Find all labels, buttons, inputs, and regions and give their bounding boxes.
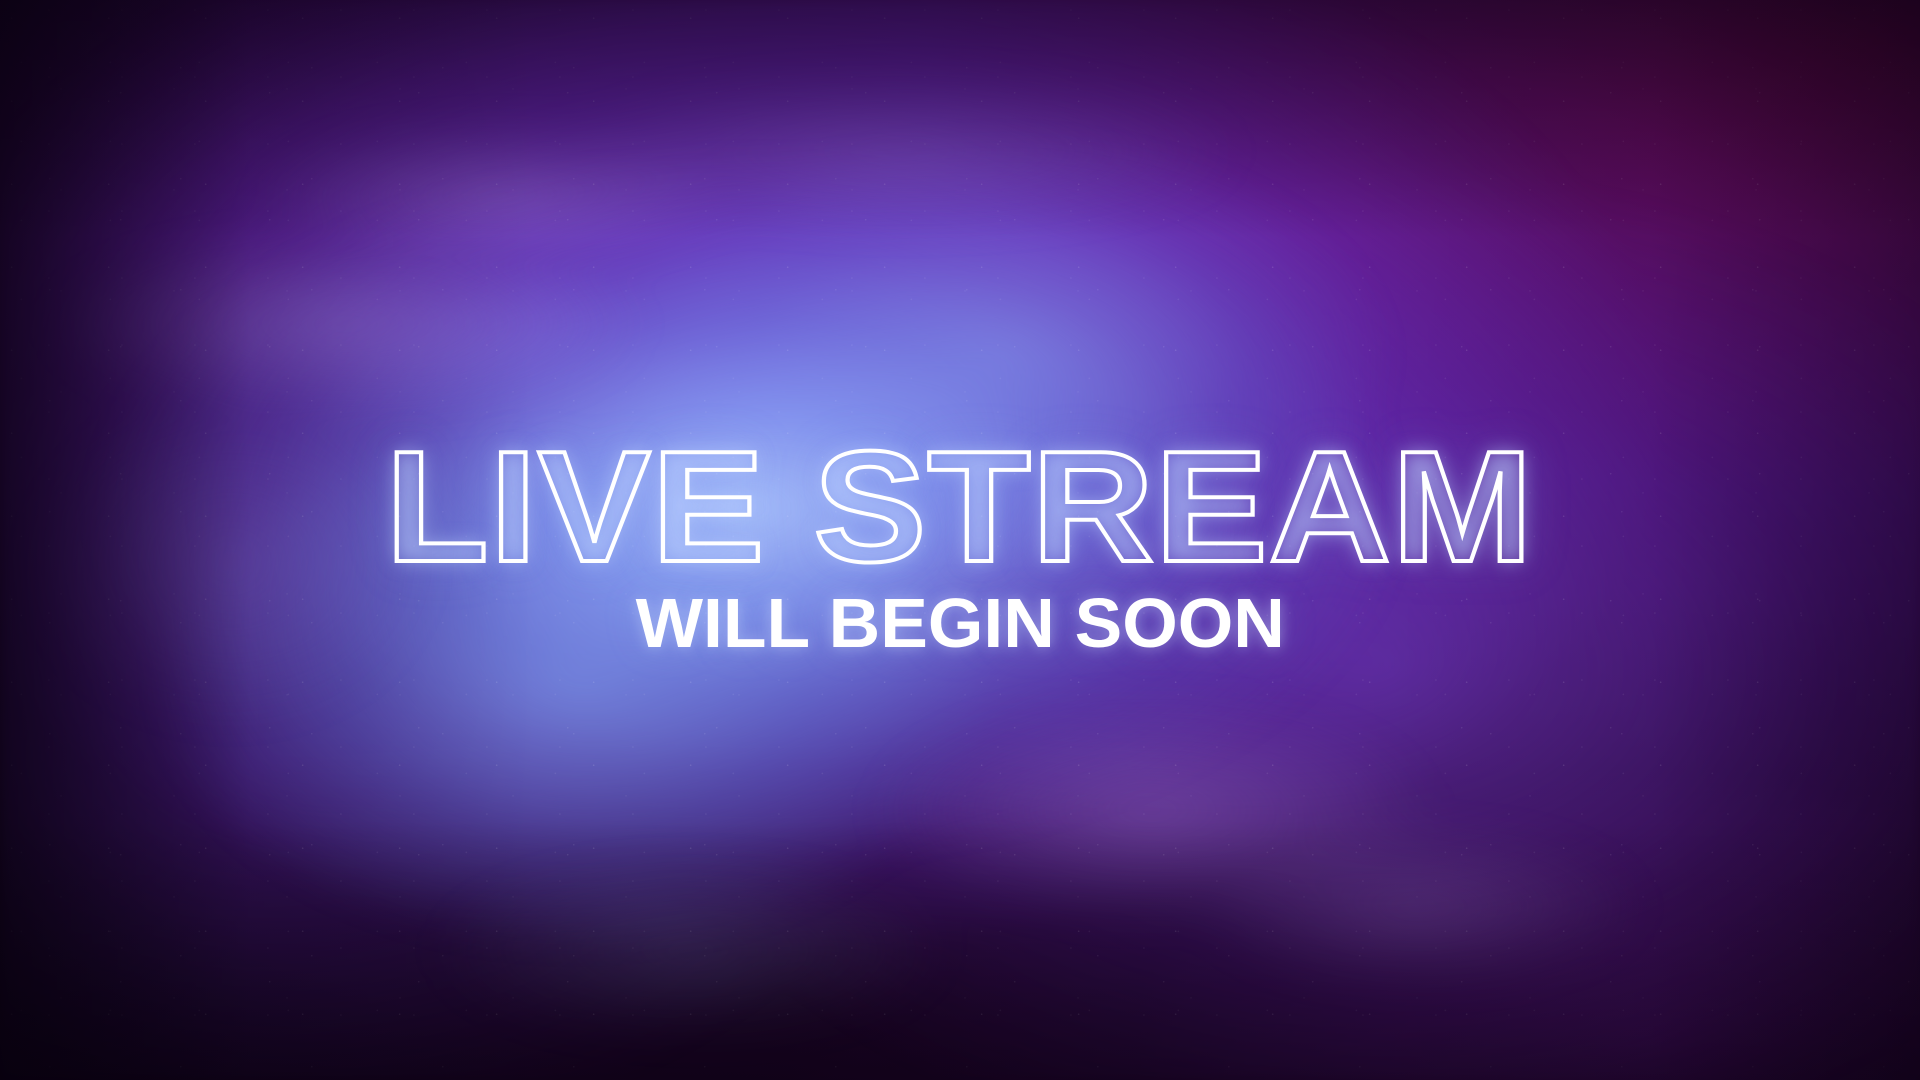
headline-container: LIVE STREAM	[0, 446, 1920, 569]
text-content-block: LIVE STREAM WILL BEGIN SOON	[0, 0, 1920, 1080]
live-stream-waiting-screen: LIVE STREAM WILL BEGIN SOON	[0, 0, 1920, 1080]
page-subtitle: WILL BEGIN SOON	[635, 588, 1284, 658]
page-title: LIVE STREAM	[386, 446, 1534, 569]
subtitle-container: WILL BEGIN SOON	[0, 588, 1920, 658]
